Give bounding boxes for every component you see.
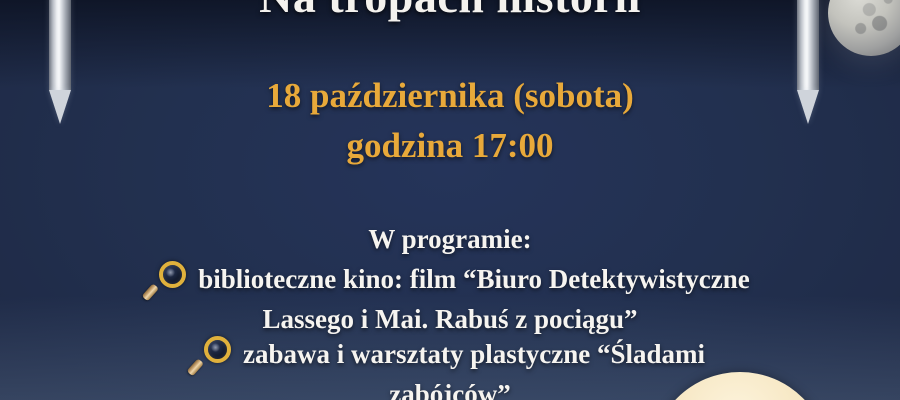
magnifying-glass-icon xyxy=(195,335,235,377)
program-item-1: biblioteczne kino: film “Biuro Detektywi… xyxy=(0,262,900,302)
program-item-2-line-1: zabawa i warsztaty plastyczne “Śladami xyxy=(243,337,705,373)
magnifier-handle xyxy=(187,359,204,377)
magnifier-handle xyxy=(142,283,159,301)
poster-title: Na tropach historii xyxy=(0,0,900,23)
magnifying-glass-icon xyxy=(150,260,190,302)
program-item-2-line-2: zabójców” xyxy=(0,377,900,400)
poster-content: Na tropach historii 18 października (sob… xyxy=(0,0,900,400)
event-date: 18 października (sobota) xyxy=(0,78,900,113)
event-time: godzina 17:00 xyxy=(0,128,900,163)
program-item-2: zabawa i warsztaty plastyczne “Śladami xyxy=(0,337,900,377)
program-section: W programie: biblioteczne kino: film “Bi… xyxy=(0,222,900,400)
program-item-1-line-2: Lassego i Mai. Rabuś z pociągu” xyxy=(0,302,900,338)
poster-canvas: Na tropach historii 18 października (sob… xyxy=(0,0,900,400)
program-heading: W programie: xyxy=(0,222,900,258)
program-item-1-line-1: biblioteczne kino: film “Biuro Detektywi… xyxy=(198,262,749,298)
magnifier-lens xyxy=(159,261,186,288)
magnifier-lens xyxy=(204,336,231,363)
